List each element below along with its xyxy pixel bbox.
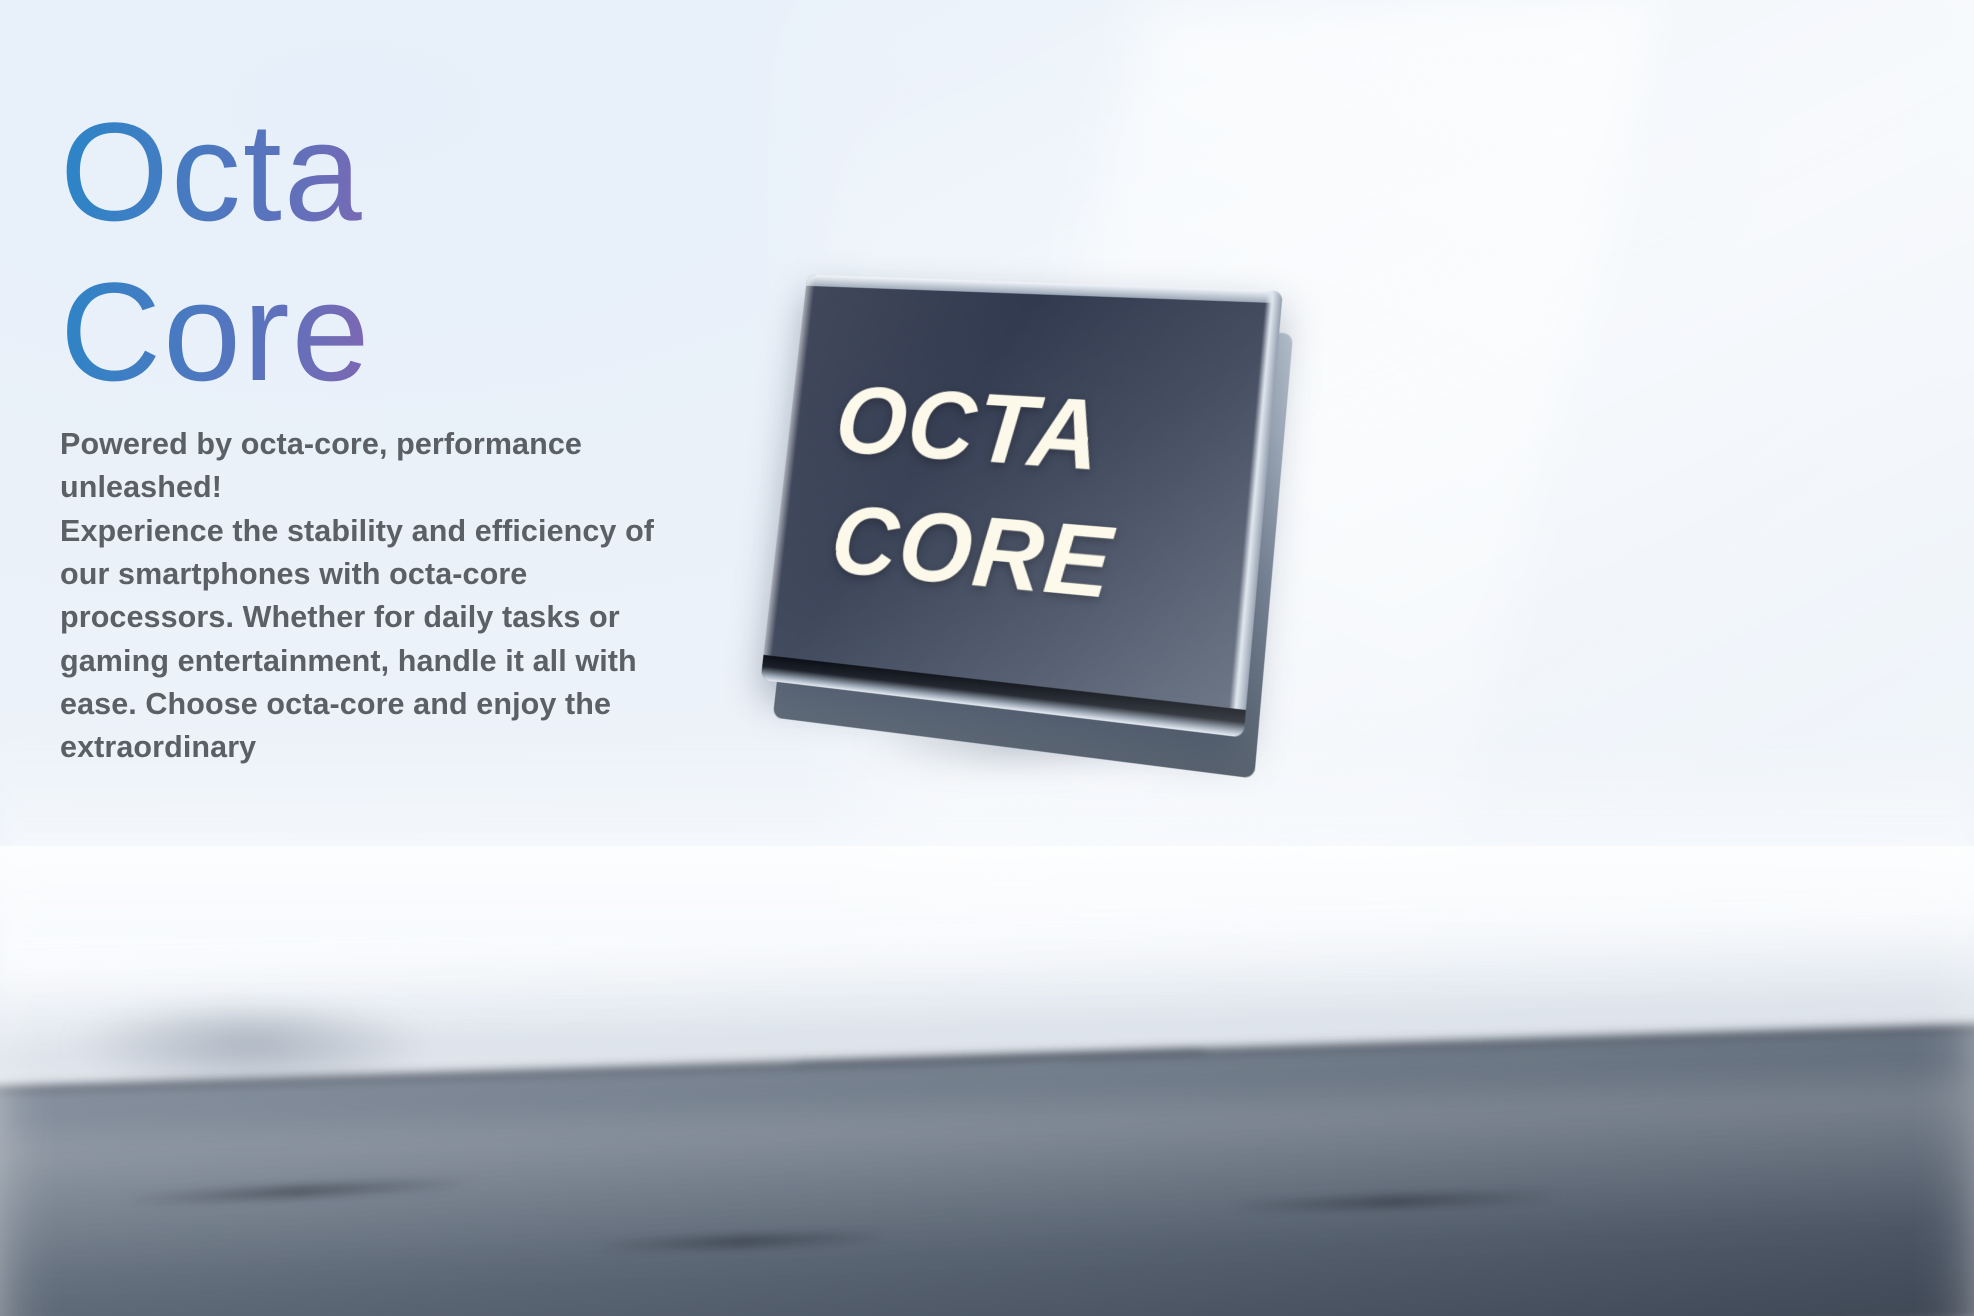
chip-3d: OCTA CORE (756, 275, 1304, 783)
page-title: Octa Core (60, 92, 720, 411)
chip-label-line2: CORE (825, 479, 1263, 642)
floating-chip: OCTA CORE (760, 278, 1320, 778)
headline-line-2: Core (60, 252, 720, 412)
chip-bevel-left-icon (761, 275, 816, 681)
body-paragraph-1: Powered by octa-core, performance unleas… (60, 423, 700, 510)
chip-bevel-right-icon (1227, 291, 1283, 738)
body-copy: Powered by octa-core, performance unleas… (60, 423, 700, 769)
chip-bevel-top-icon (806, 275, 1283, 304)
copy-block: Octa Core Powered by octa-core, performa… (60, 92, 720, 770)
banner-stage: OCTA CORE Octa Core Powered by octa-core… (0, 0, 1974, 1316)
chip-face: OCTA CORE (761, 275, 1283, 738)
motherboard-scene (0, 846, 1974, 1316)
body-paragraph-2: Experience the stability and efficiency … (60, 510, 700, 770)
chip-label-line1: OCTA (830, 360, 1275, 511)
chip-label: OCTA CORE (761, 275, 1283, 738)
headline-line-1: Octa (60, 92, 720, 252)
chip-bevel-bottom-icon (761, 655, 1246, 738)
